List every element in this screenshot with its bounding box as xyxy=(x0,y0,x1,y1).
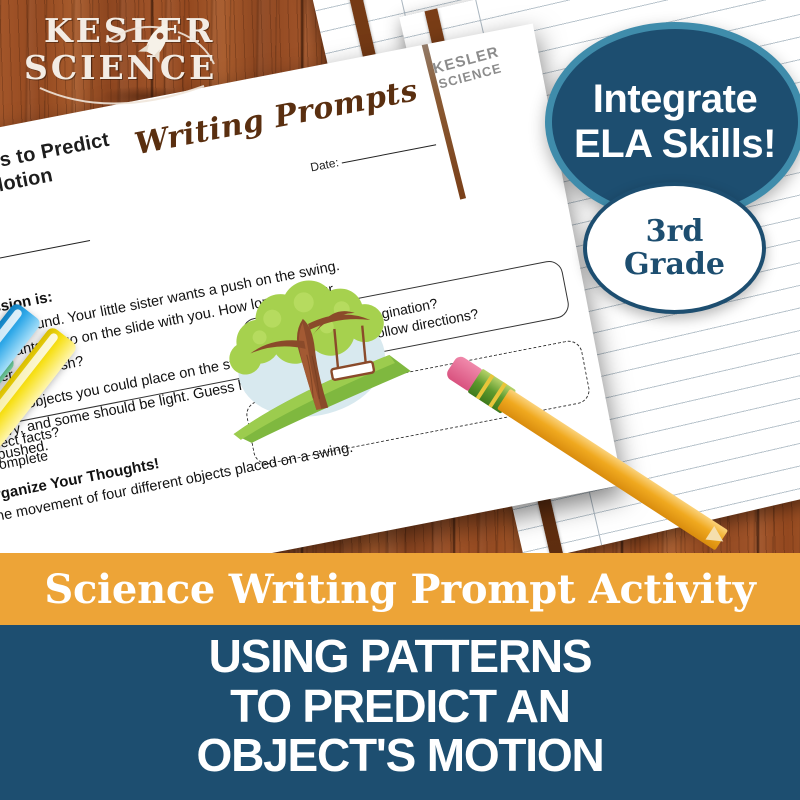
grade-badge-line2: Grade xyxy=(624,249,725,281)
subtitle-text: Science Writing Prompt Activity xyxy=(44,566,755,613)
poster-canvas: Using Patterns to Predict an Object's Mo… xyxy=(0,0,800,800)
title-line-2: TO PREDICT AN xyxy=(230,682,570,732)
title-line-3: OBJECT'S MOTION xyxy=(197,731,604,781)
ela-badge-line1: Integrate xyxy=(593,79,757,120)
grade-badge-line1: 3rd xyxy=(646,216,704,248)
grade-level-badge: 3rd Grade xyxy=(583,182,766,314)
subtitle-banner: Science Writing Prompt Activity xyxy=(0,553,800,625)
worksheet-kesler-logo: KESLER SCIENCE xyxy=(420,41,517,94)
kesler-science-logo: KESLER SCIENCE xyxy=(18,14,228,118)
ela-badge-line2: ELA Skills! xyxy=(574,124,776,165)
rocket-icon xyxy=(138,18,177,63)
title-banner: USING PATTERNS TO PREDICT AN OBJECT'S MO… xyxy=(0,625,800,800)
title-line-1: USING PATTERNS xyxy=(209,632,592,682)
